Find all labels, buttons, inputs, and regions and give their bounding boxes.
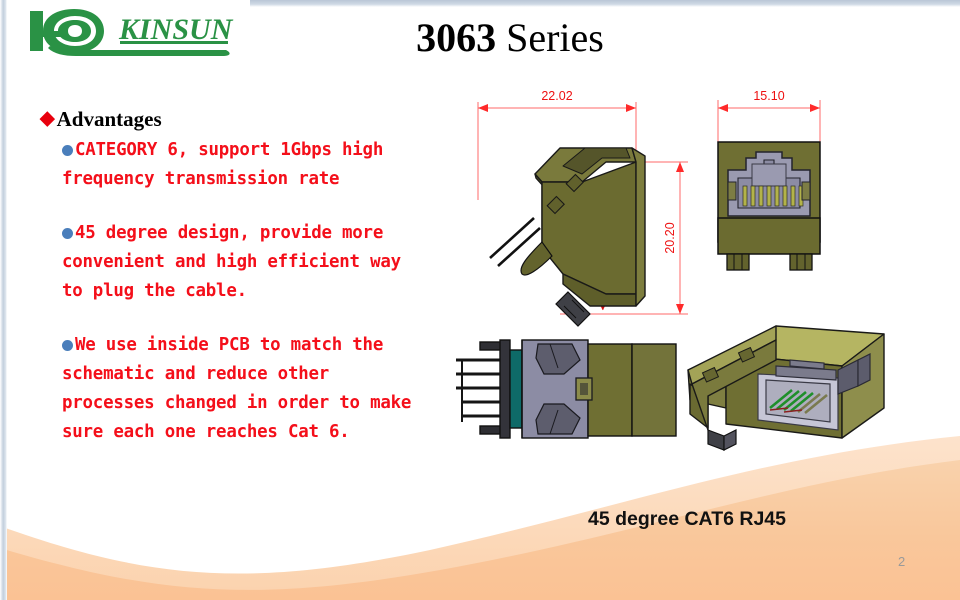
bullet-text: CATEGORY 6, support 1Gbps high frequency…: [62, 136, 415, 194]
list-item: 45 degree design, provide more convenien…: [40, 219, 415, 306]
advantages-heading: ◆ Advantages: [40, 108, 415, 130]
slide-canvas: KINSUN 3063 Series ◆ Advantages CATEGORY…: [0, 0, 960, 600]
kinsun-logo: KINSUN: [24, 7, 256, 59]
title-series-word: Series: [506, 15, 604, 60]
round-bullet-icon: [62, 228, 73, 239]
technical-drawings: 22.02 20.20 45°: [440, 78, 950, 478]
45-degree-side-view: 22.02 20.20 45°: [478, 89, 688, 326]
drawing-caption: 45 degree CAT6 RJ45: [588, 508, 786, 531]
advantages-section: ◆ Advantages CATEGORY 6, support 1Gbps h…: [40, 108, 415, 447]
round-bullet-icon: [62, 145, 73, 156]
left-border-stripe: [0, 0, 7, 600]
dim-label-width: 22.02: [541, 89, 572, 103]
rj45-front-view: 15.10: [718, 89, 820, 270]
top-border-stripe: [250, 0, 960, 7]
list-item: We use inside PCB to match the schematic…: [40, 331, 415, 447]
rj45-side-section-view: [456, 340, 676, 438]
page-number: 2: [898, 554, 905, 569]
bullet-text: We use inside PCB to match the schematic…: [62, 331, 415, 447]
rj45-isometric-view: [688, 326, 884, 450]
advantages-heading-label: Advantages: [57, 108, 162, 130]
dim-label-height: 20.20: [663, 222, 677, 253]
page-title: 3063 Series: [300, 14, 720, 61]
bullet-text: 45 degree design, provide more convenien…: [62, 219, 415, 306]
title-series-number: 3063: [416, 15, 496, 60]
round-bullet-icon: [62, 340, 73, 351]
dim-label-front-width: 15.10: [753, 89, 784, 103]
diamond-bullet-icon: ◆: [40, 109, 55, 128]
list-item: CATEGORY 6, support 1Gbps high frequency…: [40, 136, 415, 194]
